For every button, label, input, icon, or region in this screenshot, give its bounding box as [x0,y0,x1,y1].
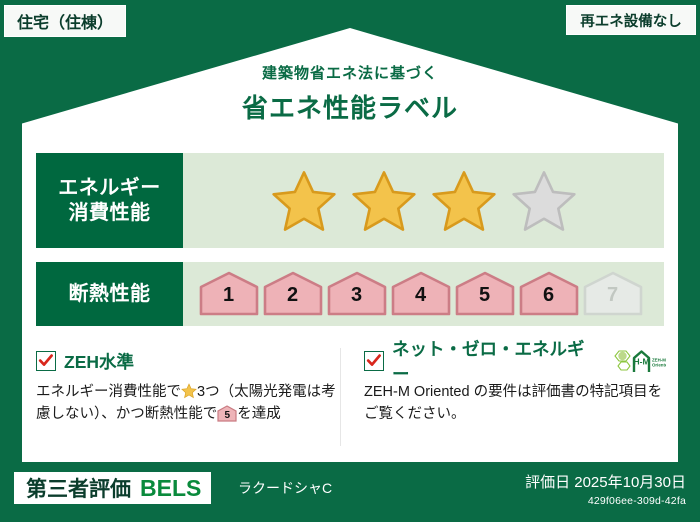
tab-renewable-status: 再エネ設備なし [566,5,696,35]
zeh-column-standard: ZEH水準 エネルギー消費性能で3つ（太陽光発電は考慮しない）、かつ断熱性能で5… [36,348,338,448]
insulation-pip-value: 6 [518,284,580,307]
svg-text:H-M: H-M [633,357,649,367]
star-rating [267,166,581,236]
inline-star-icon [181,383,197,399]
evaluation-date: 評価日 2025年10月30日 [525,471,686,492]
star-4-empty [507,166,581,236]
zeh-standard-title: ZEH水準 [64,349,134,374]
evaluation-date-label: 評価日 [525,474,570,491]
zeh-netzero-body: ZEH-M Oriented の要件は評価書の特記項目をご覧ください。 [364,381,666,426]
row-insulation-label: 断熱性能 [36,262,183,326]
insulation-pip-5-filled: 5 [454,271,516,317]
row-insulation-performance: 断熱性能 1234567 [36,262,664,326]
bels-en-text: BELS [140,475,201,502]
row-energy-content [183,153,664,248]
insulation-pip-value: 2 [262,284,324,307]
row-insulation-content: 1234567 [183,262,664,326]
insulation-pip-7-empty: 7 [582,271,644,317]
title-subtitle: 建築物省エネ法に基づく [0,62,700,83]
star-3-filled [427,166,501,236]
zeh-netzero-title: ネット・ゼロ・エネルギー [392,336,598,386]
zeh-standard-body: エネルギー消費性能で3つ（太陽光発電は考慮しない）、かつ断熱性能で5を達成 [36,381,338,426]
zeh-standard-body-post: を達成 [237,406,281,422]
zeh-standard-body-pre: エネルギー消費性能で [36,384,181,400]
svg-text:Oriented: Oriented [652,363,666,368]
insulation-pip-6-filled: 6 [518,271,580,317]
zeh-netzero-header: ネット・ゼロ・エネルギー H-M ZEH-M Oriented [364,348,666,374]
insulation-pip-value: 7 [582,284,644,307]
zeh-standard-checkbox-icon [36,351,56,371]
evaluation-id: 429f06ee-309d-42fa [525,495,686,507]
evaluation-date-value: 2025年10月30日 [574,474,686,491]
insulation-pip-value: 4 [390,284,452,307]
building-name: ラクードシャC [238,478,332,498]
row-energy-label-line1: エネルギー [58,176,161,201]
zeh-section: ZEH水準 エネルギー消費性能で3つ（太陽光発電は考慮しない）、かつ断熱性能で5… [36,348,666,448]
row-energy-label: エネルギー 消費性能 [36,153,183,248]
evaluation-info: 評価日 2025年10月30日 429f06ee-309d-42fa [525,471,686,507]
row-insulation-label-line1: 断熱性能 [69,282,151,307]
bels-jp-text: 第三者評価 [26,473,131,503]
zeh-column-netzero: ネット・ゼロ・エネルギー H-M ZEH-M Oriented [338,348,666,448]
bels-badge: 第三者評価 BELS [14,472,211,504]
zeh-netzero-checkbox-icon [364,351,384,371]
bels-energy-label: 住宅（住棟） 再エネ設備なし 建築物省エネ法に基づく 省エネ性能ラベル エネルギ… [0,0,700,522]
inline-insulation-badge-icon: 5 [217,405,237,422]
star-2-filled [347,166,421,236]
zeh-m-oriented-logo-icon: H-M ZEH-M Oriented [610,348,666,374]
insulation-pip-4-filled: 4 [390,271,452,317]
insulation-pip-scale: 1234567 [198,271,650,317]
insulation-pip-value: 5 [454,284,516,307]
insulation-pip-1-filled: 1 [198,271,260,317]
star-1-filled [267,166,341,236]
title-main: 省エネ性能ラベル [0,88,700,125]
insulation-pip-value: 1 [198,284,260,307]
inline-insulation-badge-value: 5 [217,408,237,424]
row-energy-performance: エネルギー 消費性能 [36,153,664,248]
label-title-block: 建築物省エネ法に基づく 省エネ性能ラベル [0,62,700,125]
label-footer: 第三者評価 BELS ラクードシャC 評価日 2025年10月30日 429f0… [0,464,700,522]
row-energy-label-line2: 消費性能 [69,201,151,226]
insulation-pip-3-filled: 3 [326,271,388,317]
zeh-standard-header: ZEH水準 [36,348,338,374]
insulation-pip-value: 3 [326,284,388,307]
tab-building-type: 住宅（住棟） [4,5,126,37]
insulation-pip-2-filled: 2 [262,271,324,317]
